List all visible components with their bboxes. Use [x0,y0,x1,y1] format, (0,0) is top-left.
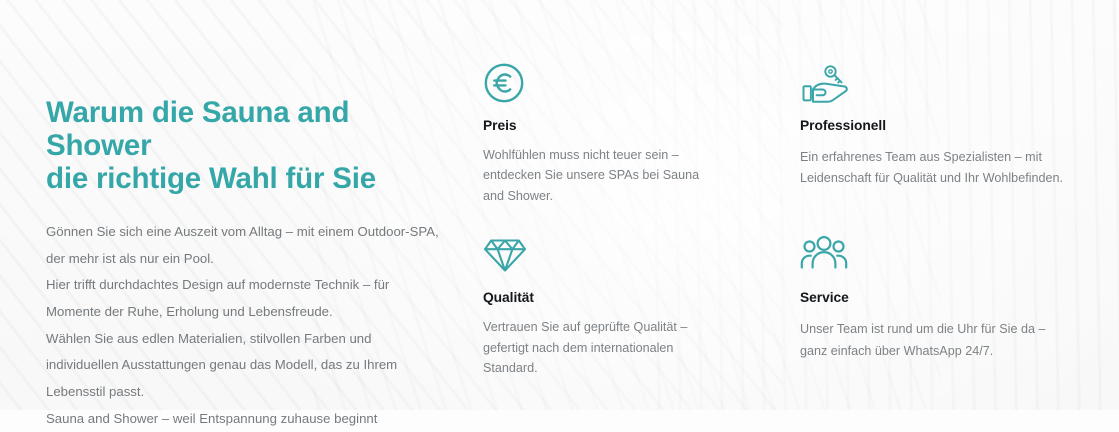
feature-card-preis: Preis Wohlfühlen muss nicht teuer sein –… [483,62,800,206]
feature-row-2: Qualität Vertrauen Sie auf geprüfte Qual… [483,206,1083,378]
feature-title: Qualität [483,290,770,305]
feature-card-qualitaet: Qualität Vertrauen Sie auf geprüfte Qual… [483,206,800,378]
feature-description: Unser Team ist rund um die Uhr für Sie d… [800,319,1083,362]
feature-grid: Preis Wohlfühlen muss nicht teuer sein –… [483,62,1083,378]
intro-block: Warum die Sauna and Shower die richtige … [46,96,446,432]
people-group-icon [800,234,1083,280]
euro-circle-icon [483,62,770,108]
feature-row-1: Preis Wohlfühlen muss nicht teuer sein –… [483,62,1083,206]
diamond-icon [483,234,770,280]
feature-title: Preis [483,118,770,133]
hand-key-icon [800,62,1083,108]
page-root: Warum die Sauna and Shower die richtige … [0,0,1119,410]
page-title: Warum die Sauna and Shower die richtige … [46,96,446,195]
feature-title: Service [800,290,1083,305]
feature-description: Vertrauen Sie auf geprüfte Qualität – ge… [483,317,770,378]
feature-description: Ein erfahrenes Team aus Spezialisten – m… [800,147,1083,190]
feature-card-service: Service Unser Team ist rund um die Uhr f… [800,206,1083,378]
intro-paragraph: Gönnen Sie sich eine Auszeit vom Alltag … [46,219,446,432]
feature-card-professionell: Professionell Ein erfahrenes Team aus Sp… [800,62,1083,206]
feature-title: Professionell [800,118,1083,133]
feature-description: Wohlfühlen muss nicht teuer sein – entde… [483,145,770,206]
